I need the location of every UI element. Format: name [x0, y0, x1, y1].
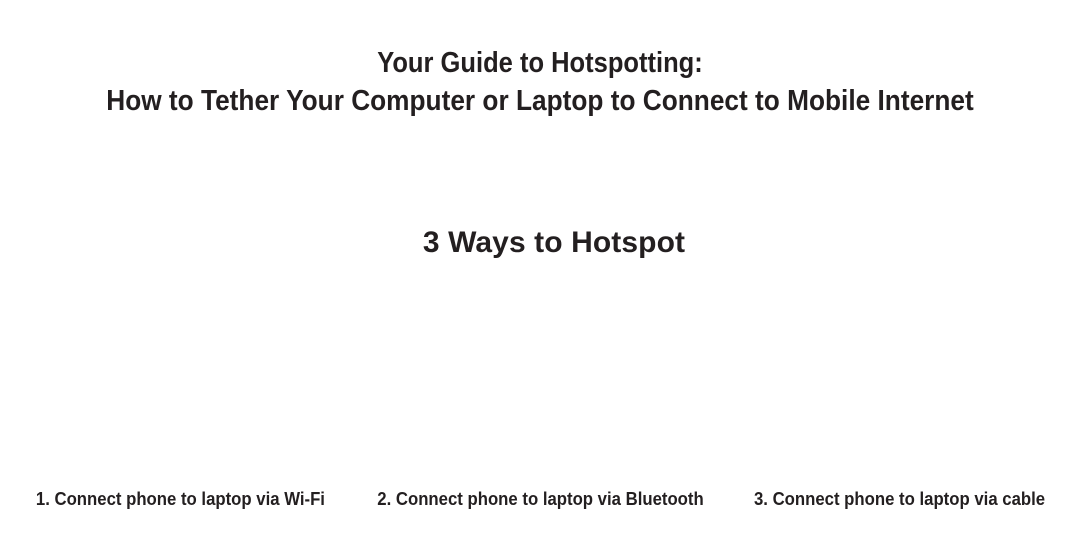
method-caption-wifi: 1. Connect phone to laptop via Wi-Fi	[0, 487, 360, 511]
illustration-slot-bluetooth	[360, 280, 720, 475]
illustration-slot-wifi	[0, 280, 360, 475]
method-caption-wifi-label: 1. Connect phone to laptop via Wi-Fi	[35, 487, 324, 511]
illustration-band	[0, 280, 1080, 475]
method-caption-bluetooth-label: 2. Connect phone to laptop via Bluetooth	[377, 487, 703, 511]
title-line-1: Your Guide to Hotspotting:	[65, 44, 1015, 82]
method-caption-cable-label: 3. Connect phone to laptop via cable	[754, 487, 1045, 511]
method-caption-cable: 3. Connect phone to laptop via cable	[720, 487, 1080, 511]
illustration-slot-cable	[720, 280, 1080, 475]
section-subtitle: 3 Ways to Hotspot	[0, 224, 1080, 262]
title-line-2: How to Tether Your Computer or Laptop to…	[51, 82, 1028, 120]
page-title: Your Guide to Hotspotting: How to Tether…	[0, 44, 1080, 120]
infographic-page: Your Guide to Hotspotting: How to Tether…	[0, 0, 1080, 552]
method-caption-bluetooth: 2. Connect phone to laptop via Bluetooth	[360, 487, 720, 511]
caption-row: 1. Connect phone to laptop via Wi-Fi 2. …	[0, 487, 1080, 511]
